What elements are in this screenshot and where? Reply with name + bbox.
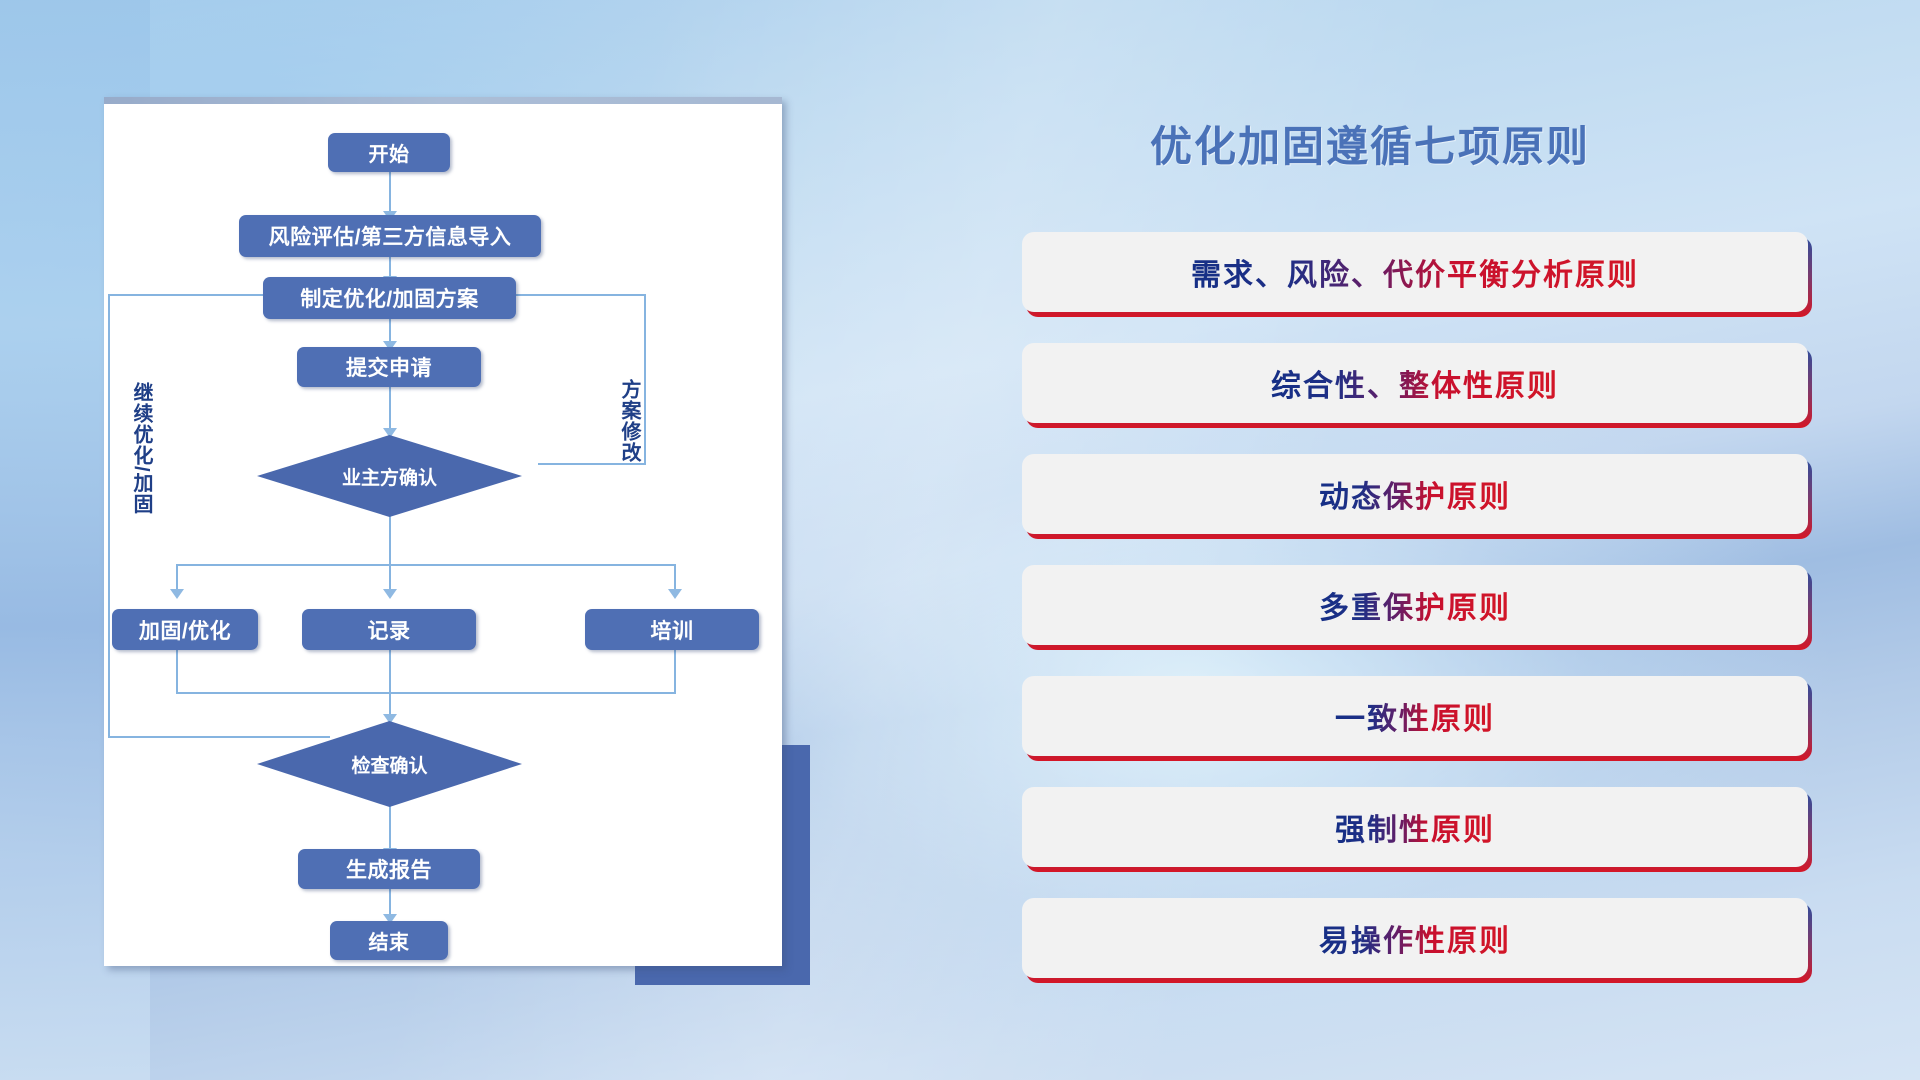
- edge-start-to-risk: [389, 170, 391, 217]
- flow-node-training-label: 培训: [651, 615, 694, 645]
- principle-card-5-label: 一致性原则: [1335, 694, 1495, 738]
- principle-card-3-label: 动态保护原则: [1319, 472, 1511, 516]
- principle-card-5[interactable]: 一致性原则: [1022, 676, 1822, 764]
- principle-card-2-label: 综合性、整体性原则: [1271, 361, 1559, 405]
- connector-right-loop-bottom: [538, 463, 646, 465]
- flow-node-record-label: 记录: [368, 615, 411, 645]
- principle-card-1-label: 需求、风险、代价平衡分析原则: [1191, 250, 1639, 294]
- flow-node-check-confirm-label: 检查确认: [351, 751, 427, 778]
- principle-card-6-label: 强制性原则: [1335, 805, 1495, 849]
- principle-card-7-body[interactable]: 易操作性原则: [1022, 898, 1808, 978]
- principle-card-5-body[interactable]: 一致性原则: [1022, 676, 1808, 756]
- edge-merge-bus: [176, 692, 676, 694]
- principle-card-2-body[interactable]: 综合性、整体性原则: [1022, 343, 1808, 423]
- flow-node-owner-confirm[interactable]: 业主方确认: [257, 435, 522, 517]
- flow-node-start-label: 开始: [369, 138, 410, 167]
- flow-node-reinforce-label: 加固/优化: [139, 615, 231, 645]
- principle-card-7-label: 易操作性原则: [1319, 916, 1511, 960]
- principle-card-7[interactable]: 易操作性原则: [1022, 898, 1822, 986]
- principle-card-1-body[interactable]: 需求、风险、代价平衡分析原则: [1022, 232, 1808, 312]
- principle-card-3-body[interactable]: 动态保护原则: [1022, 454, 1808, 534]
- flow-node-submit-label: 提交申请: [346, 352, 432, 382]
- principle-card-6-body[interactable]: 强制性原则: [1022, 787, 1808, 867]
- connector-left-loop-bottom: [108, 736, 330, 738]
- principle-card-4-label: 多重保护原则: [1319, 583, 1511, 627]
- flow-node-end[interactable]: 结束: [330, 921, 448, 960]
- principles-title: 优化加固遵循七项原则: [1150, 113, 1590, 174]
- flowchart-panel: 开始 风险评估/第三方信息导入 制定优化/加固方案 提交申请 业主方确认 加固/…: [104, 97, 782, 966]
- flow-node-report-label: 生成报告: [346, 854, 432, 884]
- edge-training-down: [674, 650, 676, 693]
- connector-right-loop-vertical: [644, 294, 646, 464]
- edge-record-arrow: [383, 589, 397, 599]
- principles-list: 需求、风险、代价平衡分析原则 综合性、整体性原则 动态保护原则 多重保护原则 一…: [1022, 232, 1822, 1009]
- principle-card-4-body[interactable]: 多重保护原则: [1022, 565, 1808, 645]
- edge-record-down: [389, 650, 391, 721]
- edge-owner-down: [389, 515, 391, 565]
- principle-card-3[interactable]: 动态保护原则: [1022, 454, 1822, 542]
- principle-card-1[interactable]: 需求、风险、代价平衡分析原则: [1022, 232, 1822, 320]
- flow-node-submit[interactable]: 提交申请: [297, 347, 481, 387]
- flow-node-start[interactable]: 开始: [328, 133, 450, 172]
- flow-node-check-confirm[interactable]: 检查确认: [257, 721, 522, 807]
- connector-left-loop-vertical: [108, 294, 110, 737]
- principle-card-4[interactable]: 多重保护原则: [1022, 565, 1822, 653]
- flow-node-risk-assessment-label: 风险评估/第三方信息导入: [269, 221, 512, 251]
- flow-node-report[interactable]: 生成报告: [298, 849, 480, 889]
- edge-training-arrow: [668, 589, 682, 599]
- flow-node-plan-label: 制定优化/加固方案: [300, 283, 478, 313]
- flow-node-owner-confirm-label: 业主方确认: [342, 463, 437, 490]
- flow-node-risk-assessment[interactable]: 风险评估/第三方信息导入: [239, 215, 541, 257]
- edge-reinforce-down: [176, 650, 178, 693]
- flow-node-training[interactable]: 培训: [585, 609, 759, 650]
- principle-card-2[interactable]: 综合性、整体性原则: [1022, 343, 1822, 431]
- principle-card-6[interactable]: 强制性原则: [1022, 787, 1822, 875]
- edge-reinforce-arrow: [170, 589, 184, 599]
- flow-panel-top-bar: [104, 97, 782, 104]
- edge-label-continue-optimize: 继续优化/加固: [130, 382, 151, 515]
- edge-owner-branch-bus: [176, 564, 676, 566]
- flow-node-record[interactable]: 记录: [302, 609, 476, 650]
- flow-node-reinforce[interactable]: 加固/优化: [112, 609, 258, 650]
- flow-node-plan[interactable]: 制定优化/加固方案: [263, 277, 516, 319]
- edge-label-plan-revise: 方案修改: [618, 379, 639, 463]
- connector-left-loop-top: [108, 294, 283, 296]
- edge-check-to-report: [389, 806, 391, 854]
- flow-node-end-label: 结束: [369, 926, 410, 955]
